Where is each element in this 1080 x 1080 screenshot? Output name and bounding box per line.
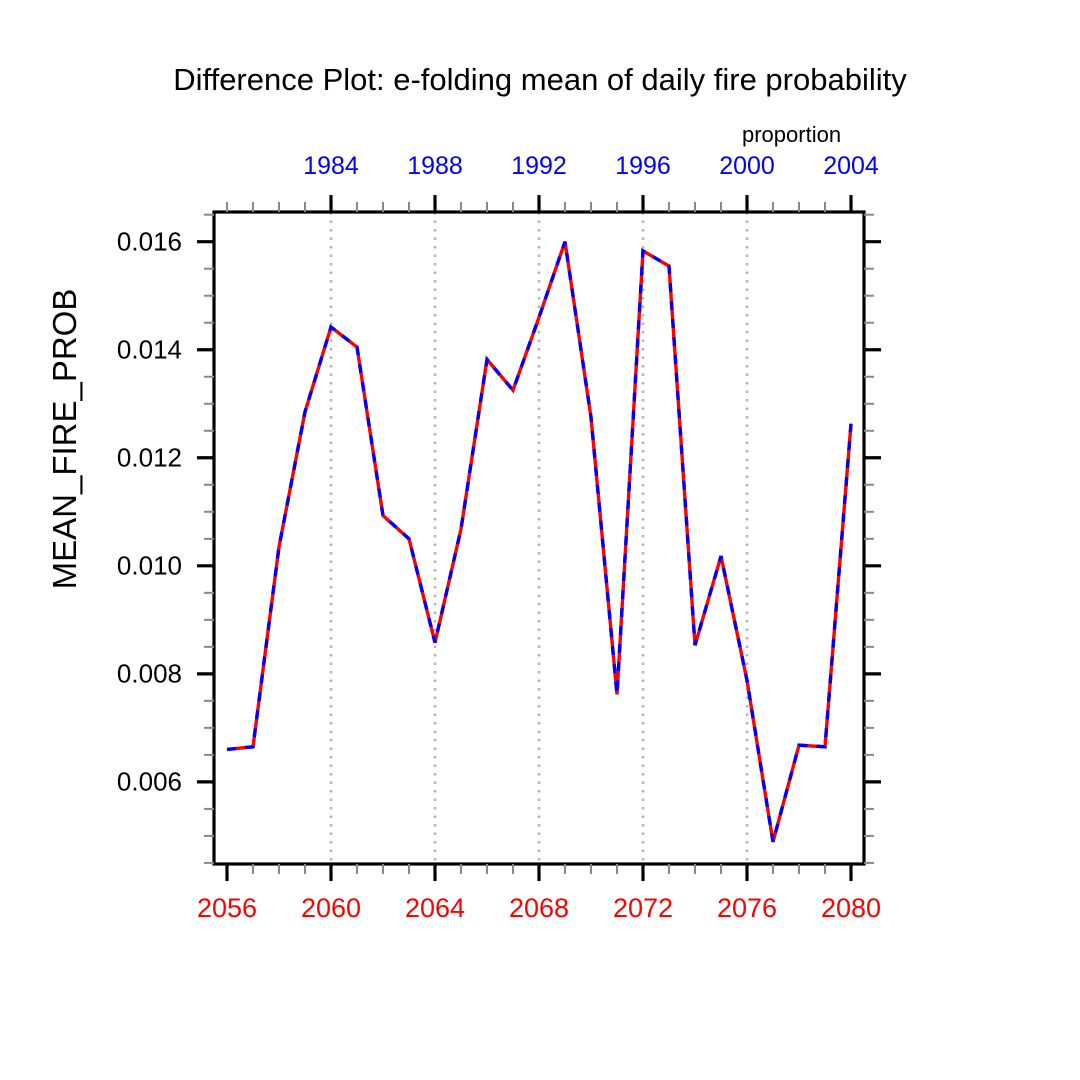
y-axis-tick-label: 0.012 — [0, 442, 182, 473]
y-axis-tick-label: 0.010 — [0, 550, 182, 581]
y-axis-tick-label: 0.008 — [0, 658, 182, 689]
bottom-axis-tick-label: 2060 — [301, 893, 361, 924]
top-axis-tick-label: 1988 — [407, 152, 463, 181]
bottom-axis-tick-label: 2064 — [405, 893, 465, 924]
top-axis-tick-label: 1996 — [615, 152, 671, 181]
bottom-axis-tick-label: 2076 — [717, 893, 777, 924]
top-axis-tick-label: 2000 — [719, 152, 775, 181]
top-axis-tick-label: 1992 — [511, 152, 567, 181]
bottom-axis-tick-label: 2068 — [509, 893, 569, 924]
y-axis-tick-label: 0.016 — [0, 226, 182, 257]
y-axis-tick-label: 0.014 — [0, 334, 182, 365]
bottom-axis-tick-label: 2080 — [821, 893, 881, 924]
chart-page: Difference Plot: e-folding mean of daily… — [0, 0, 1080, 1080]
top-axis-tick-label: 1984 — [303, 152, 359, 181]
bottom-axis-tick-label: 2072 — [613, 893, 673, 924]
top-axis-tick-label: 2004 — [823, 152, 879, 181]
y-axis-tick-label: 0.006 — [0, 766, 182, 797]
bottom-axis-tick-label: 2056 — [197, 893, 257, 924]
